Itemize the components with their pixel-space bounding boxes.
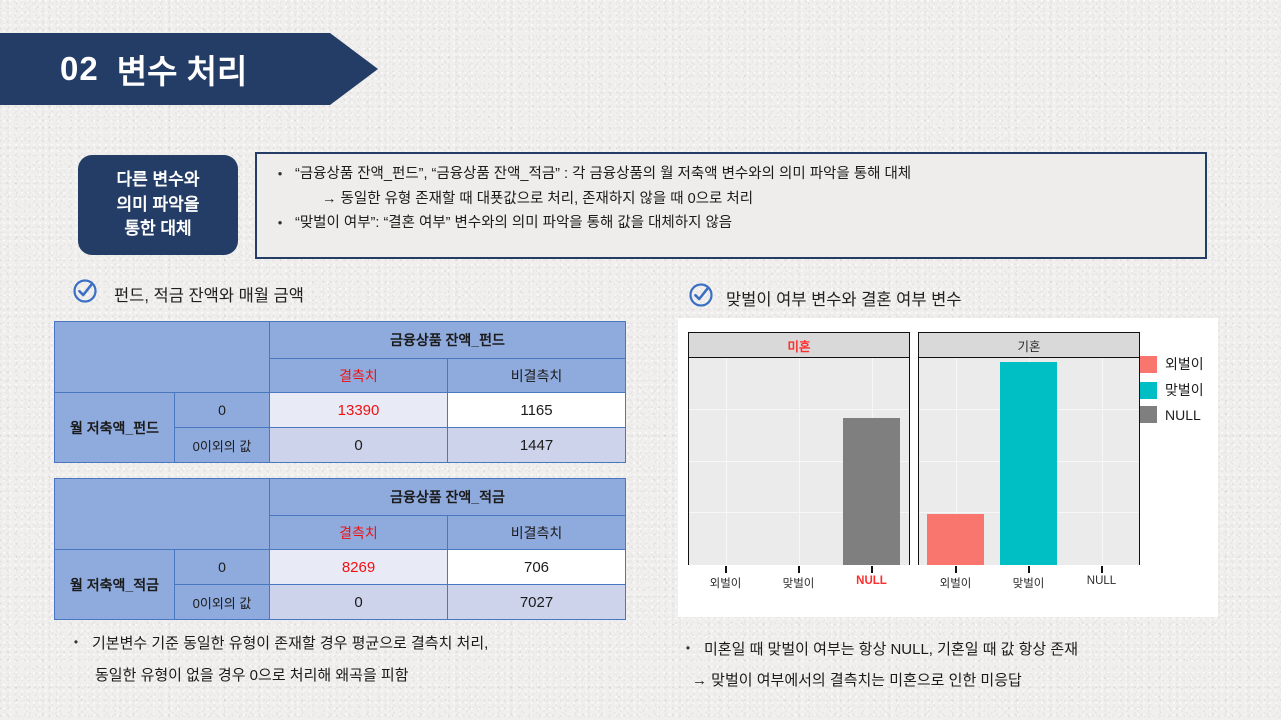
section-header-banner: 02 변수 처리: [0, 33, 378, 105]
legend-swatch-icon: [1140, 406, 1157, 423]
callout-pill-line-3: 통한 대체: [124, 217, 191, 242]
section-number: 02: [60, 50, 99, 88]
bottom-note-right: • 미혼일 때 맞벌이 여부는 항상 NULL, 기혼일 때 값 항상 존재 →…: [672, 638, 1272, 693]
table-corner-blank: [55, 322, 270, 393]
grid-line-vertical: [726, 358, 727, 565]
plot-area-single: [689, 358, 909, 565]
check-circle-icon: [688, 282, 714, 313]
x-axis-label-null: NULL: [1087, 575, 1116, 587]
table-row-label-nonzero: 0이외의 값: [175, 428, 270, 463]
table-corner-blank: [55, 479, 270, 550]
bottom-left-line-2: 동일한 유형이 없을 경우 0으로 처리해 왜곡을 피함: [60, 664, 660, 687]
table-cell-missing-nonzero: 0: [270, 585, 448, 620]
chart-legend: 외벌이 맞벌이 NULL: [1140, 354, 1204, 429]
bottom-right-bullet: • 미혼일 때 맞벌이 여부는 항상 NULL, 기혼일 때 값 항상 존재: [672, 638, 1272, 661]
table-top-header: 금융상품 잔액_적금: [270, 479, 626, 516]
table-row: 월 저축액_펀드 0 13390 1165: [55, 393, 626, 428]
x-axis-label-외벌이: 외벌이: [710, 575, 742, 591]
table-row-label-zero: 0: [175, 550, 270, 585]
callout-pill-label: 다른 변수와 의미 파악을 통한 대체: [78, 155, 238, 255]
bullet-glyph-icon: •: [60, 632, 92, 652]
bullet-glyph-icon: •: [672, 638, 704, 658]
facet-strip-single: 미혼: [689, 333, 909, 358]
chart-bar-외벌이: [927, 514, 984, 565]
chart-facet-married: 기혼 외벌이맞벌이NULL: [918, 332, 1140, 565]
callout-bullet-2-text: “맞벌이 여부”: “결혼 여부” 변수와의 의미 파악을 통해 값을 대체하지…: [295, 213, 732, 235]
table-subheader-nonmissing: 비결측치: [448, 516, 626, 550]
callout-bullet-1-text: “금융상품 잔액_펀드”, “금융상품 잔액_적금” : 각 금융상품의 월 저…: [295, 164, 911, 186]
table-cell-missing-zero: 8269: [270, 550, 448, 585]
callout-pill-line-1: 다른 변수와: [117, 168, 200, 193]
table-cell-nonmissing-nonzero: 1447: [448, 428, 626, 463]
legend-label: 외벌이: [1165, 354, 1204, 374]
chart-facet-single: 미혼 외벌이맞벌이NULL: [688, 332, 910, 565]
slide-canvas: 02 변수 처리 다른 변수와 의미 파악을 통한 대체 • “금융상품 잔액_…: [0, 0, 1281, 720]
legend-item: 맞벌이: [1140, 380, 1204, 400]
table-cell-missing-zero: 13390: [270, 393, 448, 428]
table-row: 금융상품 잔액_펀드: [55, 322, 626, 359]
legend-swatch-icon: [1140, 356, 1157, 373]
table-fund: 금융상품 잔액_펀드 결측치 비결측치 월 저축액_펀드 0 13390 116…: [54, 321, 626, 463]
table-row: 금융상품 잔액_적금: [55, 479, 626, 516]
table-top-header: 금융상품 잔액_펀드: [270, 322, 626, 359]
section-heading-left: 펀드, 적금 잔액와 매월 금액: [72, 278, 304, 309]
x-axis-label-맞벌이: 맞벌이: [783, 575, 815, 591]
check-circle-icon: [72, 278, 98, 309]
table-subheader-missing: 결측치: [270, 516, 448, 550]
table-row-label-nonzero: 0이외의 값: [175, 585, 270, 620]
table-row-group-label: 월 저축액_펀드: [55, 393, 175, 463]
table-cell-nonmissing-nonzero: 7027: [448, 585, 626, 620]
x-axis-tick: [955, 566, 957, 573]
table-row-label-zero: 0: [175, 393, 270, 428]
facet-strip-married-label: 기혼: [1017, 336, 1040, 355]
section-heading-right-label: 맞벌이 여부 변수와 결혼 여부 변수: [726, 286, 961, 310]
facet-strip-single-label: 미혼: [787, 336, 810, 355]
legend-item: 외벌이: [1140, 354, 1204, 374]
grid-line-vertical: [799, 358, 800, 565]
facet-strip-married: 기혼: [919, 333, 1139, 358]
grid-line-vertical: [1102, 358, 1103, 565]
x-axis-tick: [1101, 566, 1103, 573]
page-title: 변수 처리: [117, 45, 248, 93]
x-axis-tick: [871, 566, 873, 573]
x-axis-tick: [725, 566, 727, 573]
bottom-right-line-2: → 맞벌이 여부에서의 결측치는 미혼으로 인한 미응답: [672, 669, 1272, 692]
x-axis-label-외벌이: 외벌이: [940, 575, 972, 591]
section-heading-left-label: 펀드, 적금 잔액와 매월 금액: [114, 282, 304, 306]
bottom-right-line-1: 미혼일 때 맞벌이 여부는 항상 NULL, 기혼일 때 값 항상 존재: [704, 638, 1078, 661]
bottom-left-line-1: 기본변수 기준 동일한 유형이 존재할 경우 평균으로 결측치 처리,: [92, 632, 488, 655]
section-heading-right: 맞벌이 여부 변수와 결혼 여부 변수: [688, 282, 961, 313]
plot-area-married: [919, 358, 1139, 565]
bullet-glyph-icon: •: [265, 164, 295, 184]
table-subheader-nonmissing: 비결측치: [448, 359, 626, 393]
chart-bar-null: [843, 418, 900, 565]
callout-subline-text: → 동일한 유형 존재할 때 대푯값으로 처리, 존재하지 않을 때 0으로 처…: [265, 186, 1197, 214]
table-subheader-missing: 결측치: [270, 359, 448, 393]
table-savings: 금융상품 잔액_적금 결측치 비결측치 월 저축액_적금 0 8269 706 …: [54, 478, 626, 620]
legend-item: NULL: [1140, 406, 1204, 423]
callout-bullet-1: • “금융상품 잔액_펀드”, “금융상품 잔액_적금” : 각 금융상품의 월…: [265, 164, 1197, 186]
table-row: 월 저축액_적금 0 8269 706: [55, 550, 626, 585]
table-cell-nonmissing-zero: 706: [448, 550, 626, 585]
table-row-group-label: 월 저축액_적금: [55, 550, 175, 620]
bottom-left-bullet: • 기본변수 기준 동일한 유형이 존재할 경우 평균으로 결측치 처리,: [60, 632, 660, 655]
bottom-note-left: • 기본변수 기준 동일한 유형이 존재할 경우 평균으로 결측치 처리, 동일…: [60, 632, 660, 688]
callout-bullet-2: • “맞벌이 여부”: “결혼 여부” 변수와의 의미 파악을 통해 값을 대체…: [265, 213, 1197, 235]
chart-bar-맞벌이: [1000, 362, 1057, 565]
bullet-glyph-icon: •: [265, 213, 295, 233]
callout-pill-line-2: 의미 파악을: [117, 193, 200, 218]
x-axis-tick: [798, 566, 800, 573]
bar-chart-panel: 미혼 외벌이맞벌이NULL 기혼 외벌이맞벌이NULL 외벌이 맞벌이 NULL: [678, 318, 1218, 617]
legend-label: NULL: [1165, 407, 1201, 423]
x-axis-label-null: NULL: [856, 575, 887, 587]
legend-swatch-icon: [1140, 382, 1157, 399]
legend-label: 맞벌이: [1165, 380, 1204, 400]
x-axis-label-맞벌이: 맞벌이: [1013, 575, 1045, 591]
x-axis-tick: [1028, 566, 1030, 573]
table-cell-nonmissing-zero: 1165: [448, 393, 626, 428]
table-cell-missing-nonzero: 0: [270, 428, 448, 463]
callout-box: • “금융상품 잔액_펀드”, “금융상품 잔액_적금” : 각 금융상품의 월…: [255, 152, 1207, 259]
